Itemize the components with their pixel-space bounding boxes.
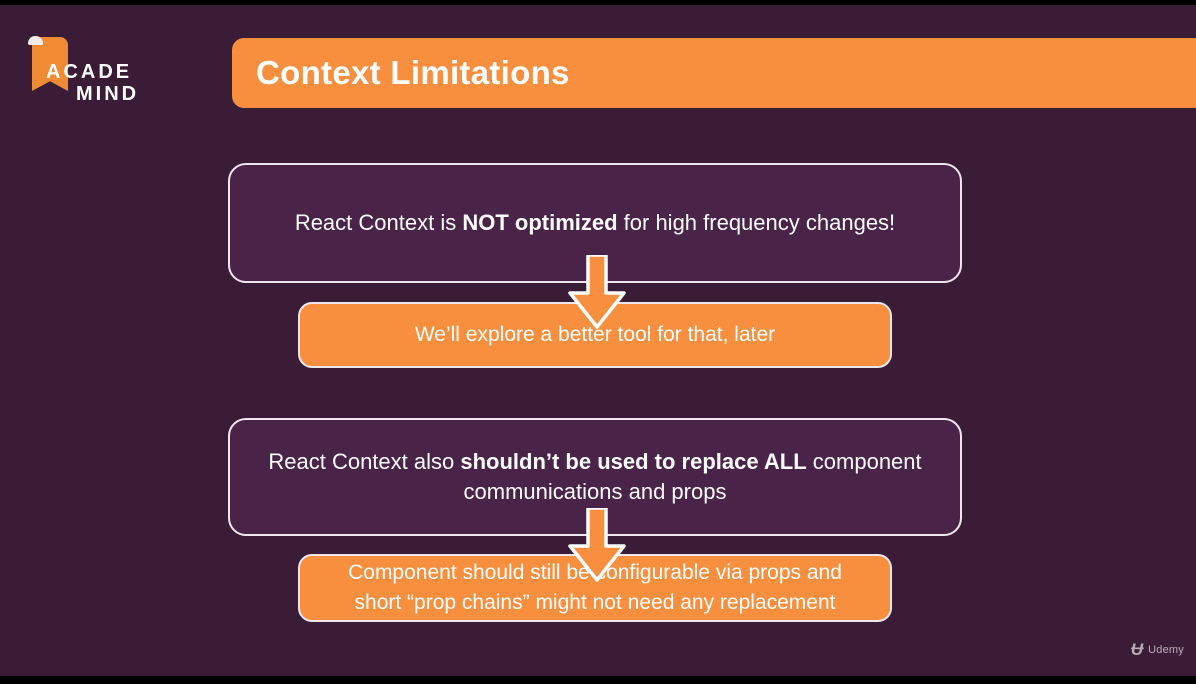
letterbox-bottom — [0, 676, 1196, 684]
slide-title-bar: Context Limitations — [232, 38, 1196, 108]
down-arrow-icon — [562, 255, 632, 335]
udemy-label: Udemy — [1148, 644, 1184, 656]
logo-wordmark: ACADE MIND — [40, 61, 190, 105]
statement-card-3-text: React Context also shouldn’t be used to … — [230, 447, 960, 507]
logo-line-acade: ACADE — [40, 61, 190, 83]
udemy-logo-icon: Ʉ — [1131, 641, 1143, 658]
page-title: Context Limitations — [232, 54, 570, 92]
down-arrow-icon — [562, 508, 632, 588]
letterbox-top — [0, 0, 1196, 5]
statement-card-1-text: React Context is NOT optimized for high … — [273, 208, 917, 238]
slide-canvas: ACADE MIND Context Limitations React Con… — [0, 5, 1196, 676]
logo-line-mind: MIND — [40, 83, 190, 105]
udemy-watermark: Ʉ Udemy — [1131, 641, 1184, 658]
academind-logo: ACADE MIND — [26, 33, 196, 113]
flag-curl-icon — [28, 36, 43, 45]
